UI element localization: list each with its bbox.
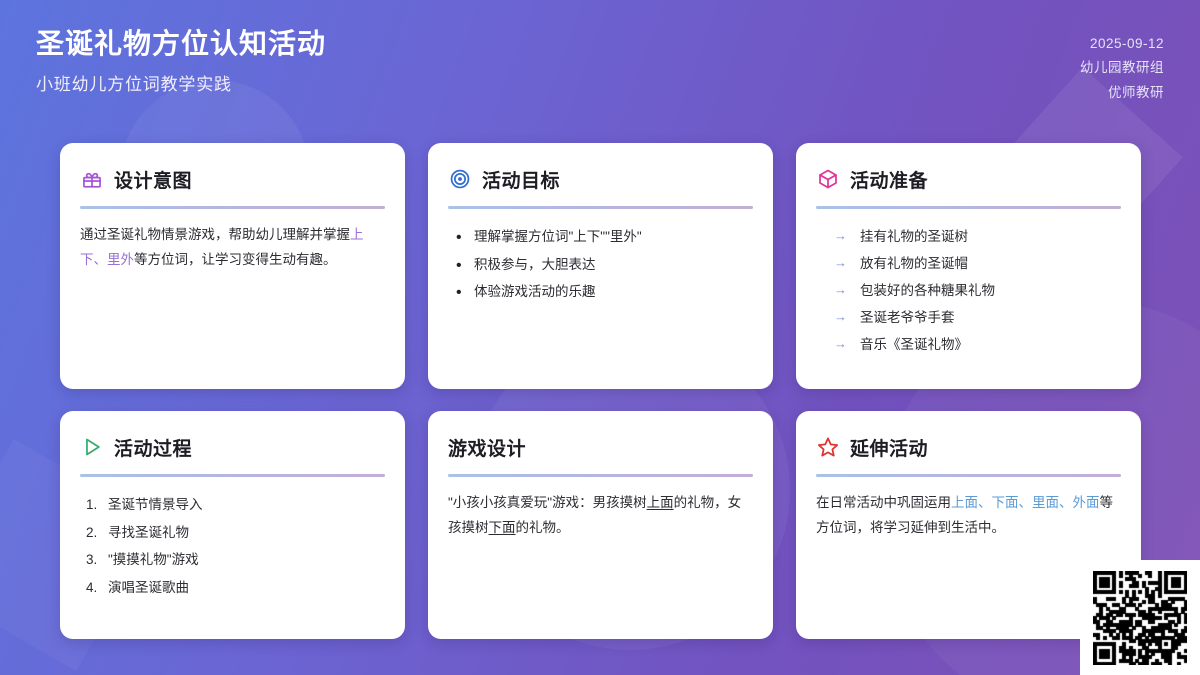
page-title: 圣诞礼物方位认知活动 [36, 26, 326, 62]
list-item: 体验游戏活动的乐趣 [452, 278, 753, 306]
paragraph-segment: 里外 [107, 252, 134, 267]
card-header: 活动准备 [816, 165, 1121, 193]
qr-code-panel[interactable] [1080, 560, 1200, 675]
paragraph-segment: 上面 [951, 495, 978, 510]
list-item: 包装好的各种糖果礼物 [834, 277, 1121, 304]
card-list: 理解掌握方位词"上下""里外"积极参与，大胆表达体验游戏活动的乐趣 [448, 223, 753, 306]
list-item: "摸摸礼物"游戏 [84, 546, 385, 574]
card-design-intent: 设计意图通过圣诞礼物情景游戏，帮助幼儿理解并掌握上下、里外等方位词，让学习变得生… [60, 143, 405, 389]
paragraph-segment: 、 [1059, 495, 1073, 510]
list-item: 音乐《圣诞礼物》 [834, 331, 1121, 358]
card-title: 活动过程 [114, 434, 192, 461]
paragraph-segment: 、 [978, 495, 992, 510]
card-body: "小孩小孩真爱玩"游戏：男孩摸树上面的礼物，女孩摸树下面的礼物。 [448, 491, 753, 541]
paragraph-segment: 下面 [489, 520, 516, 535]
card-activity-process: 活动过程圣诞节情景导入寻找圣诞礼物"摸摸礼物"游戏演唱圣诞歌曲 [60, 411, 405, 639]
meta-author: 优师教研 [1108, 81, 1164, 101]
card-divider [816, 206, 1121, 209]
card-title: 活动准备 [850, 166, 928, 193]
card-body: 在日常活动中巩固运用上面、下面、里面、外面等方位词，将学习延伸到生活中。 [816, 491, 1121, 541]
card-body: 理解掌握方位词"上下""里外"积极参与，大胆表达体验游戏活动的乐趣 [448, 223, 753, 306]
list-item: 理解掌握方位词"上下""里外" [452, 223, 753, 251]
card-title: 延伸活动 [850, 434, 928, 461]
paragraph-segment: 下面 [992, 495, 1019, 510]
card-divider [816, 474, 1121, 477]
list-item: 积极参与，大胆表达 [452, 251, 753, 279]
list-item: 寻找圣诞礼物 [84, 519, 385, 547]
gift-icon [80, 168, 103, 191]
list-item: 挂有礼物的圣诞树 [834, 223, 1121, 250]
card-title: 设计意图 [114, 166, 192, 193]
card-body: 挂有礼物的圣诞树放有礼物的圣诞帽包装好的各种糖果礼物圣诞老爷爷手套音乐《圣诞礼物… [816, 223, 1121, 358]
card-grid: 设计意图通过圣诞礼物情景游戏，帮助幼儿理解并掌握上下、里外等方位词，让学习变得生… [60, 143, 1140, 639]
box-icon [816, 168, 839, 191]
paragraph-segment: 、 [94, 252, 108, 267]
paragraph-segment: 里面 [1032, 495, 1059, 510]
card-title: 游戏设计 [448, 434, 526, 461]
meta-date: 2025-09-12 [1090, 36, 1164, 51]
card-divider [448, 474, 753, 477]
card-activity-goals: 活动目标理解掌握方位词"上下""里外"积极参与，大胆表达体验游戏活动的乐趣 [428, 143, 773, 389]
paragraph-segment: 等方位词，让学习变得生动有趣。 [134, 252, 337, 267]
card-divider [448, 206, 753, 209]
paragraph-segment: 上面 [647, 495, 674, 510]
list-item: 圣诞节情景导入 [84, 491, 385, 519]
paragraph-segment: 在日常活动中巩固运用 [816, 495, 951, 510]
card-divider [80, 206, 385, 209]
card-body: 通过圣诞礼物情景游戏，帮助幼儿理解并掌握上下、里外等方位词，让学习变得生动有趣。 [80, 223, 385, 273]
card-body: 圣诞节情景导入寻找圣诞礼物"摸摸礼物"游戏演唱圣诞歌曲 [80, 491, 385, 602]
paragraph-segment: "小孩小孩真爱玩"游戏：男孩摸树 [448, 495, 647, 510]
card-header: 活动目标 [448, 165, 753, 193]
card-divider [80, 474, 385, 477]
paragraph-segment: 的礼物。 [516, 520, 570, 535]
card-header: 设计意图 [80, 165, 385, 193]
card-title: 活动目标 [482, 166, 560, 193]
list-item: 演唱圣诞歌曲 [84, 574, 385, 602]
paragraph-segment: 外面 [1073, 495, 1100, 510]
header-titles: 圣诞礼物方位认知活动 小班幼儿方位词教学实践 [36, 26, 326, 95]
list-item: 放有礼物的圣诞帽 [834, 250, 1121, 277]
page-header: 圣诞礼物方位认知活动 小班幼儿方位词教学实践 2025-09-12 幼儿园教研组… [0, 0, 1200, 120]
header-meta: 2025-09-12 幼儿园教研组 优师教研 [1080, 26, 1164, 101]
paragraph-segment: 通过圣诞礼物情景游戏，帮助幼儿理解并掌握 [80, 227, 350, 242]
card-activity-preparation: 活动准备挂有礼物的圣诞树放有礼物的圣诞帽包装好的各种糖果礼物圣诞老爷爷手套音乐《… [796, 143, 1141, 389]
card-game-design: 游戏设计"小孩小孩真爱玩"游戏：男孩摸树上面的礼物，女孩摸树下面的礼物。 [428, 411, 773, 639]
page-subtitle: 小班幼儿方位词教学实践 [36, 70, 326, 95]
card-header: 游戏设计 [448, 433, 753, 461]
meta-organization: 幼儿园教研组 [1080, 56, 1164, 76]
card-ordered-list: 圣诞节情景导入寻找圣诞礼物"摸摸礼物"游戏演唱圣诞歌曲 [80, 491, 385, 602]
paragraph-segment: 、 [1019, 495, 1033, 510]
card-header: 延伸活动 [816, 433, 1121, 461]
card-header: 活动过程 [80, 433, 385, 461]
list-item: 圣诞老爷爷手套 [834, 304, 1121, 331]
qr-code-image [1093, 571, 1187, 665]
star-icon [816, 436, 839, 459]
target-icon [448, 168, 471, 191]
card-list: 挂有礼物的圣诞树放有礼物的圣诞帽包装好的各种糖果礼物圣诞老爷爷手套音乐《圣诞礼物… [816, 223, 1121, 358]
play-icon [80, 436, 103, 459]
